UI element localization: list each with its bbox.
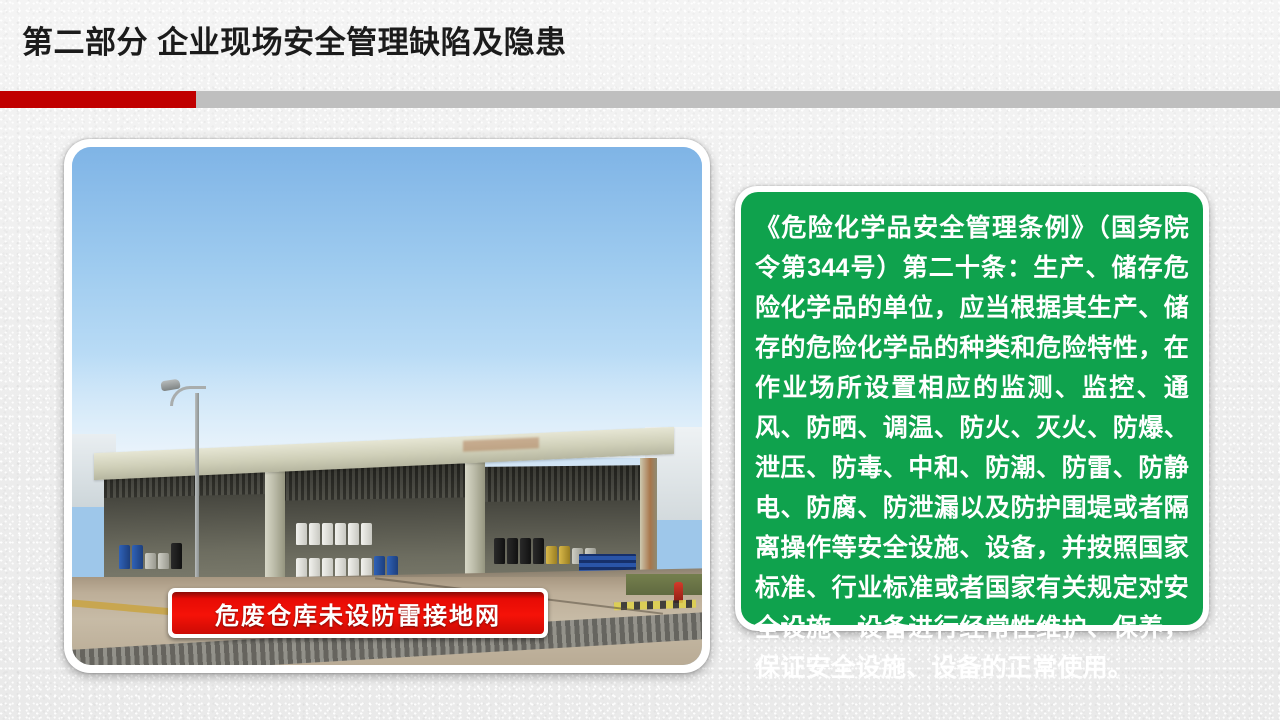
photo-stored-totes-bay-2-upper <box>296 523 372 545</box>
header-rule-secondary <box>196 91 1280 108</box>
regulation-card-body: 《危险化学品安全管理条例》（国务院令第344号）第二十条：生产、储存危险化学品的… <box>741 192 1203 625</box>
header-rule-bar <box>0 91 1280 108</box>
regulation-card: 《危险化学品安全管理条例》（国务院令第344号）第二十条：生产、储存危险化学品的… <box>735 186 1209 631</box>
photo-drum <box>119 545 130 569</box>
photo-caption-text: 危废仓库未设防雷接地网 <box>172 592 544 634</box>
photo-tote <box>322 523 333 545</box>
photo-card: 危废仓库未设防雷接地网 <box>64 139 710 673</box>
photo-drum <box>559 546 570 564</box>
photo-stored-drums-bay-1 <box>119 543 182 569</box>
photo-caption-banner: 危废仓库未设防雷接地网 <box>168 588 548 638</box>
slide-title: 第二部分 企业现场安全管理缺陷及隐患 <box>22 24 567 63</box>
presentation-slide: 第二部分 企业现场安全管理缺陷及隐患 <box>0 0 1280 720</box>
photo-grass-verge <box>626 574 702 595</box>
photo-drum <box>171 543 182 569</box>
site-photo: 危废仓库未设防雷接地网 <box>72 147 702 665</box>
header-rule-accent <box>0 91 196 108</box>
photo-drum <box>158 553 169 569</box>
photo-tote <box>361 523 372 545</box>
photo-warehouse-bay-1 <box>104 461 268 592</box>
photo-drum <box>132 545 143 569</box>
photo-drum <box>533 538 544 564</box>
photo-tote <box>335 523 346 545</box>
photo-drum <box>507 538 518 564</box>
photo-tote <box>296 523 307 545</box>
photo-drum <box>145 553 156 569</box>
photo-drum <box>494 538 505 564</box>
regulation-text: 《危险化学品安全管理条例》（国务院令第344号）第二十条：生产、储存危险化学品的… <box>755 208 1189 688</box>
photo-tote <box>309 523 320 545</box>
photo-drum <box>520 538 531 564</box>
photo-drum <box>546 546 557 564</box>
photo-tote <box>348 523 359 545</box>
